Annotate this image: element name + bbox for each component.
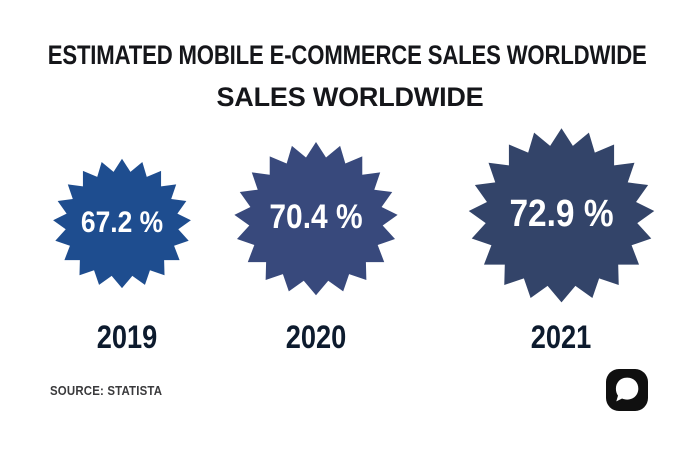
chart-title-line1-row: ESTIMATED MOBILE E-COMMERCE SALES WORLDW… (0, 38, 700, 72)
data-point-2020[interactable]: 70.4 % (239, 140, 393, 295)
source-note: SOURCE: STATISTA (50, 383, 162, 398)
chart-title-line1: ESTIMATED MOBILE E-COMMERCE SALES WORLDW… (48, 40, 647, 70)
data-label-2021: 72.9 % (485, 126, 639, 302)
infographic-canvas: ESTIMATED MOBILE E-COMMERCE SALES WORLDW… (0, 0, 700, 464)
chart-title-line2-row: SALES WORLDWIDE (0, 82, 700, 112)
data-point-2021[interactable]: 72.9 % (474, 126, 649, 302)
data-point-2019[interactable]: 67.2 % (57, 157, 187, 288)
chart-title-block: ESTIMATED MOBILE E-COMMERCE SALES WORLDW… (0, 38, 700, 112)
axis-label-2019: 2019 (72, 318, 183, 356)
speech-bubble-logo-icon (606, 369, 648, 411)
chart-title-line2: SALES WORLDWIDE (217, 82, 484, 112)
axis-label-2020: 2020 (261, 318, 372, 356)
axis-label-2021: 2021 (506, 318, 617, 356)
data-label-2019: 67.2 % (65, 157, 179, 288)
data-label-2020: 70.4 % (248, 140, 384, 295)
category-axis-labels: 2019 2020 2021 (0, 318, 700, 360)
brand-logo[interactable] (606, 369, 648, 411)
